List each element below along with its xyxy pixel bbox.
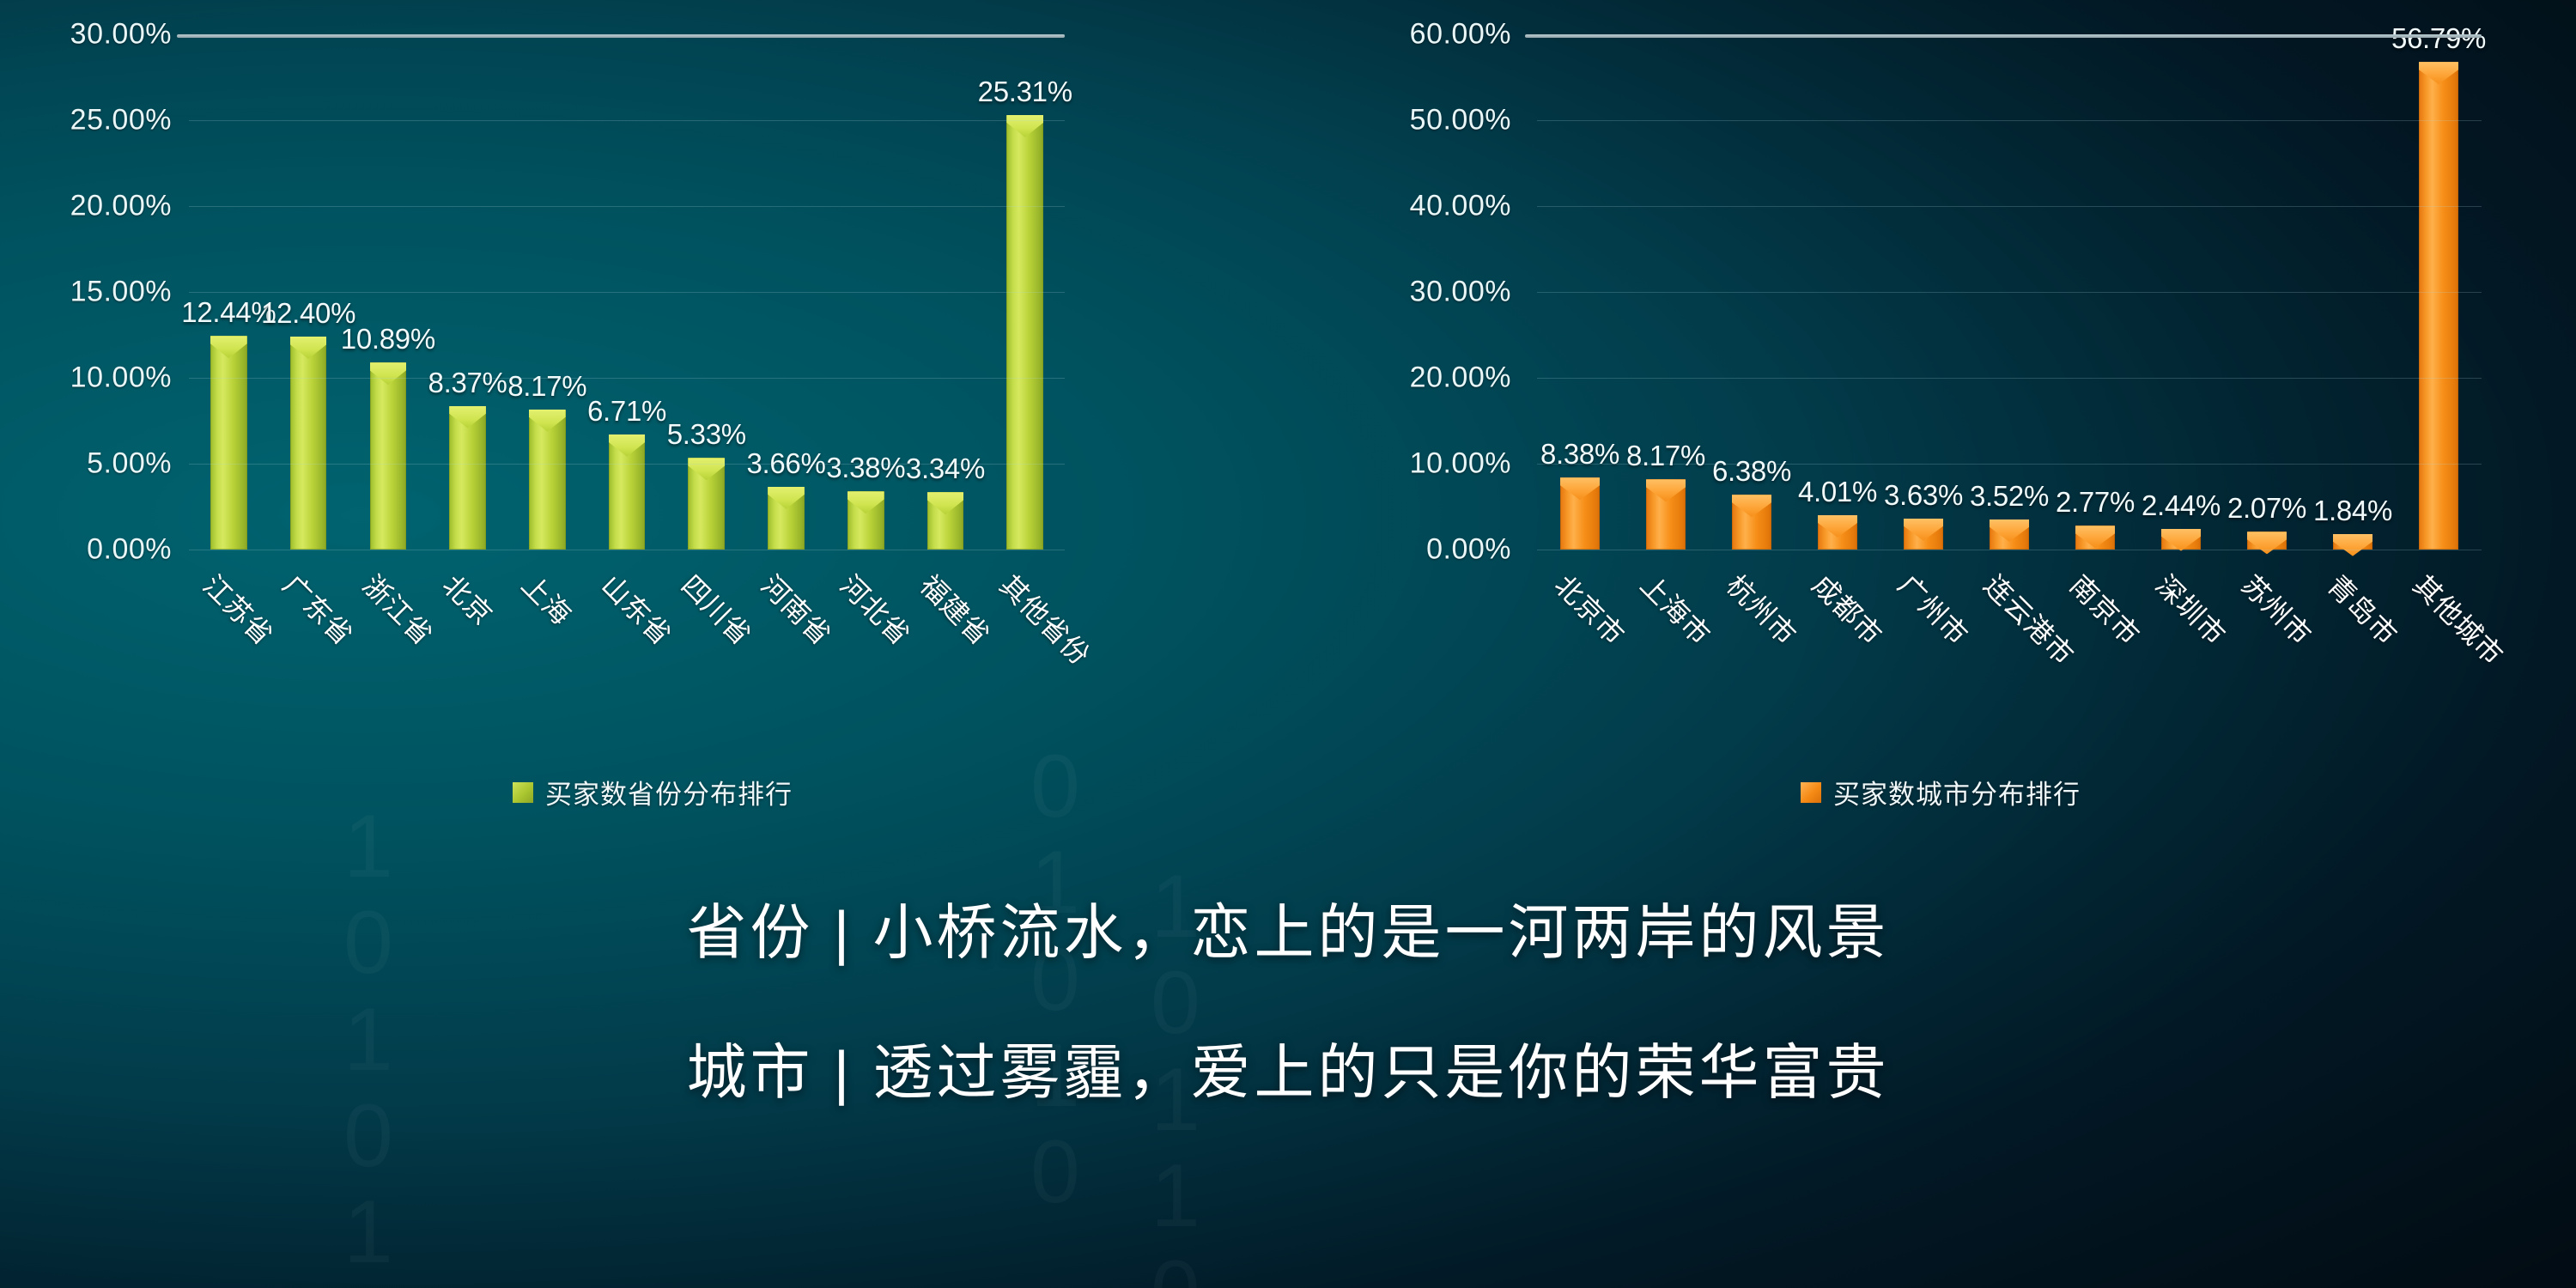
city-bar-value-label: 1.84% xyxy=(2313,495,2392,527)
city-category-label: 南京市 xyxy=(2062,565,2150,653)
bar-top-bevel xyxy=(2333,534,2372,556)
province-category-slot: 江苏省 xyxy=(189,560,269,757)
city-gridline xyxy=(1537,34,2482,35)
province-category-slot: 河北省 xyxy=(826,560,906,757)
city-y-tick-label: 0.00% xyxy=(1426,533,1511,567)
city-plot-area: 0.00%10.00%20.00%30.00%40.00%50.00%60.00… xyxy=(1314,34,2567,618)
province-gridline xyxy=(189,34,1065,35)
slide-stage: 0.00%5.00%10.00%15.00%20.00%25.00%30.00%… xyxy=(0,0,2576,1288)
city-category-slot: 青岛市 xyxy=(2310,560,2396,757)
province-y-tick-label: 15.00% xyxy=(70,276,172,309)
province-category-slot: 浙江省 xyxy=(348,560,428,757)
bar-top-bevel xyxy=(1904,519,1943,541)
province-category-slot: 北京 xyxy=(428,560,507,757)
bar-top-bevel xyxy=(210,336,247,358)
province-plot: 12.44%12.40%10.89%8.37%8.17%6.71%5.33%3.… xyxy=(189,34,1065,550)
city-category-slot: 杭州市 xyxy=(1709,560,1795,757)
province-gridline xyxy=(189,206,1065,207)
city-y-tick-label: 10.00% xyxy=(1410,447,1511,481)
city-y-tick-label: 50.00% xyxy=(1410,104,1511,137)
province-y-tick-label: 0.00% xyxy=(87,533,172,567)
city-y-tick-label: 20.00% xyxy=(1410,361,1511,395)
bar-top-bevel xyxy=(2419,62,2458,84)
city-category-label: 苏州市 xyxy=(2233,565,2322,653)
city-bar[interactable] xyxy=(2161,529,2201,550)
city-legend[interactable]: 买家数城市分布排行 xyxy=(1314,773,2567,811)
city-y-tick-label: 30.00% xyxy=(1410,276,1511,309)
city-category-label: 青岛市 xyxy=(2319,565,2408,653)
province-category-label: 上海 xyxy=(514,565,582,633)
city-category-slot: 其他城市 xyxy=(2396,560,2482,757)
city-gridline xyxy=(1537,206,2482,207)
city-category-label: 杭州市 xyxy=(1718,565,1807,653)
city-gridline xyxy=(1537,464,2482,465)
city-category-slot: 深圳市 xyxy=(2138,560,2224,757)
province-gridline xyxy=(189,292,1065,293)
province-bar[interactable] xyxy=(449,406,486,550)
province-gridline xyxy=(189,464,1065,465)
bar-top-bevel xyxy=(848,491,884,513)
bar-top-bevel xyxy=(768,487,805,509)
province-category-label: 其他省份 xyxy=(992,565,1100,673)
city-bar-value-label: 2.07% xyxy=(2227,492,2306,525)
city-category-slot: 北京市 xyxy=(1537,560,1623,757)
city-category-slot: 连云港市 xyxy=(1966,560,2052,757)
province-bar-value-label: 6.71% xyxy=(587,395,666,428)
province-legend[interactable]: 买家数省份分布排行 xyxy=(17,773,1288,811)
city-gridline xyxy=(1537,550,2482,550)
city-category-label: 北京市 xyxy=(1546,565,1635,653)
province-category-slot: 其他省份 xyxy=(985,560,1065,757)
city-bar[interactable] xyxy=(1560,477,1600,550)
city-bar-value-label: 8.17% xyxy=(1626,440,1705,472)
legend-swatch-icon xyxy=(513,782,533,803)
province-gridline xyxy=(189,550,1065,550)
bar-top-bevel xyxy=(1006,115,1043,137)
bar-top-bevel xyxy=(927,492,964,514)
city-bar-value-label: 2.77% xyxy=(2056,486,2135,519)
city-category-label: 深圳市 xyxy=(2148,565,2236,653)
city-y-tick-label: 60.00% xyxy=(1410,18,1511,52)
city-bar[interactable] xyxy=(1990,519,2029,550)
province-bar[interactable] xyxy=(210,336,247,550)
city-bar[interactable] xyxy=(1732,495,1771,550)
bar-top-bevel xyxy=(1646,479,1686,501)
province-y-axis: 0.00%5.00%10.00%15.00%20.00%25.00%30.00% xyxy=(26,34,172,550)
province-bar-value-label: 8.37% xyxy=(428,367,507,399)
province-bar[interactable] xyxy=(927,492,964,550)
city-gridline xyxy=(1537,120,2482,121)
city-gridline xyxy=(1537,292,2482,293)
city-category-label: 广州市 xyxy=(1890,565,1978,653)
province-plot-area: 0.00%5.00%10.00%15.00%20.00%25.00%30.00%… xyxy=(17,34,1288,618)
city-gridline xyxy=(1537,378,2482,379)
city-category-slot: 苏州市 xyxy=(2224,560,2310,757)
province-gridline xyxy=(189,120,1065,121)
city-category-label: 成都市 xyxy=(1804,565,1893,653)
city-category-label: 上海市 xyxy=(1632,565,1721,653)
province-bar[interactable] xyxy=(688,458,725,550)
city-category-slot: 广州市 xyxy=(1880,560,1966,757)
city-category-label: 其他城市 xyxy=(2405,565,2513,673)
province-bar[interactable] xyxy=(370,362,407,550)
city-category-slot: 南京市 xyxy=(2052,560,2138,757)
caption-block: 省份 | 小桥流水，恋上的是一河两岸的风景 城市 | 透过雾霾，爱上的只是你的荣… xyxy=(0,884,2576,1111)
caption-city: 城市 | 透过雾霾，爱上的只是你的荣华富贵 xyxy=(686,1024,1889,1111)
caption-province: 省份 | 小桥流水，恋上的是一河两岸的风景 xyxy=(686,884,1889,971)
city-y-axis: 0.00%10.00%20.00%30.00%40.00%50.00%60.00… xyxy=(1365,34,1511,550)
bar-top-bevel xyxy=(449,406,486,428)
province-legend-label: 买家数省份分布排行 xyxy=(545,773,793,811)
bar-top-bevel xyxy=(290,337,327,359)
bar-top-bevel xyxy=(2075,526,2115,548)
city-bar-value-label: 3.52% xyxy=(1970,480,2049,513)
province-y-tick-label: 30.00% xyxy=(70,18,172,52)
legend-swatch-icon xyxy=(1801,782,1821,803)
city-y-tick-label: 40.00% xyxy=(1410,190,1511,223)
city-bar-value-label: 56.79% xyxy=(2391,22,2486,55)
city-bar[interactable] xyxy=(2247,532,2287,550)
province-bar[interactable] xyxy=(1006,115,1043,550)
city-bar[interactable] xyxy=(1646,479,1686,550)
city-bar-value-label: 2.44% xyxy=(2142,489,2221,522)
bar-top-bevel xyxy=(1560,477,1600,500)
city-category-slot: 成都市 xyxy=(1795,560,1880,757)
province-bar-value-label: 8.17% xyxy=(507,370,586,403)
province-bar[interactable] xyxy=(290,337,327,550)
province-category-slot: 山东省 xyxy=(587,560,667,757)
city-bar[interactable] xyxy=(2333,534,2372,550)
bar-top-bevel xyxy=(1818,515,1857,538)
bar-top-bevel xyxy=(2161,529,2201,551)
province-bar-value-label: 3.34% xyxy=(906,453,985,485)
bar-top-bevel xyxy=(529,410,566,432)
bar-top-bevel xyxy=(609,434,646,457)
city-bar-value-label: 4.01% xyxy=(1798,476,1877,508)
city-category-slot: 上海市 xyxy=(1623,560,1709,757)
city-bar[interactable] xyxy=(1904,519,1943,550)
city-bar[interactable] xyxy=(2419,62,2458,550)
bar-top-bevel xyxy=(1732,495,1771,517)
bar-top-bevel xyxy=(370,362,407,385)
province-bar-value-label: 10.89% xyxy=(341,323,435,355)
province-y-tick-label: 10.00% xyxy=(70,361,172,395)
province-category-slot: 广东省 xyxy=(269,560,349,757)
city-category-labels: 北京市上海市杭州市成都市广州市连云港市南京市深圳市苏州市青岛市其他城市 xyxy=(1537,560,2482,757)
province-bar[interactable] xyxy=(529,410,566,550)
province-bar-value-label: 5.33% xyxy=(667,418,746,451)
province-gridline xyxy=(189,378,1065,379)
province-category-slot: 河南省 xyxy=(746,560,826,757)
province-bar[interactable] xyxy=(609,434,646,550)
city-bar[interactable] xyxy=(1818,515,1857,550)
province-category-slot: 上海 xyxy=(507,560,587,757)
province-category-slot: 四川省 xyxy=(666,560,746,757)
province-bar-value-label: 3.38% xyxy=(826,452,905,484)
bar-top-bevel xyxy=(688,458,725,480)
province-y-tick-label: 25.00% xyxy=(70,104,172,137)
bar-top-bevel xyxy=(1990,519,2029,542)
bar-top-bevel xyxy=(2247,532,2287,554)
province-bar-value-label: 25.31% xyxy=(978,76,1072,108)
province-category-slot: 福建省 xyxy=(906,560,986,757)
province-bar[interactable] xyxy=(768,487,805,550)
province-bar[interactable] xyxy=(848,491,884,550)
city-plot: 8.38%8.17%6.38%4.01%3.63%3.52%2.77%2.44%… xyxy=(1537,34,2482,550)
city-bar[interactable] xyxy=(2075,526,2115,550)
city-legend-label: 买家数城市分布排行 xyxy=(1833,773,2081,811)
city-bar-value-label: 8.38% xyxy=(1540,438,1619,471)
province-category-label: 北京 xyxy=(434,565,502,633)
city-bar-value-label: 3.63% xyxy=(1884,479,1963,512)
province-category-labels: 江苏省广东省浙江省北京上海山东省四川省河南省河北省福建省其他省份 xyxy=(189,560,1065,757)
province-y-tick-label: 5.00% xyxy=(87,447,172,481)
city-bar-value-label: 6.38% xyxy=(1712,455,1791,488)
province-y-tick-label: 20.00% xyxy=(70,190,172,223)
province-chart-panel: 0.00%5.00%10.00%15.00%20.00%25.00%30.00%… xyxy=(17,34,1288,841)
city-chart-panel: 0.00%10.00%20.00%30.00%40.00%50.00%60.00… xyxy=(1314,34,2567,841)
